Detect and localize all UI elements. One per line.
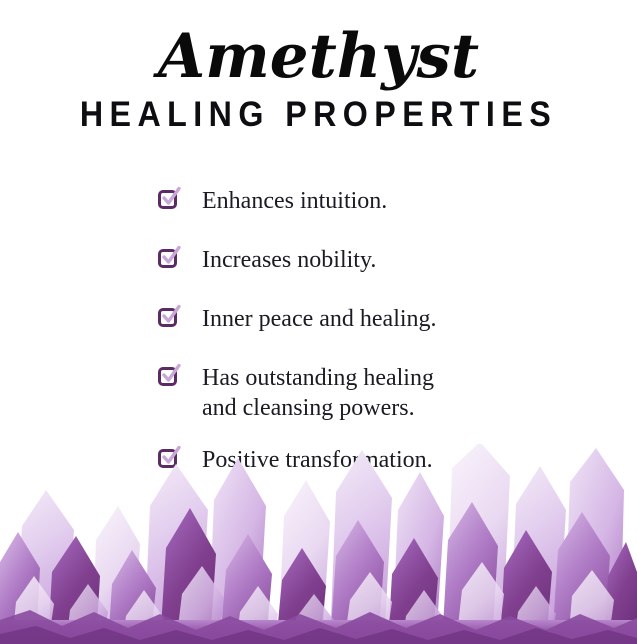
checkbox-checked-icon <box>158 189 180 211</box>
list-item: Has outstanding healing and cleansing po… <box>158 363 588 423</box>
checkbox-checked-icon <box>158 307 180 329</box>
list-item-label: Has outstanding healing and cleansing po… <box>202 363 434 423</box>
list-item: Enhances intuition. <box>158 186 588 216</box>
list-item: Inner peace and healing. <box>158 304 588 334</box>
list-item-label: Inner peace and healing. <box>202 304 437 334</box>
heading-block: Amethyst HEALING PROPERTIES <box>0 26 637 132</box>
checkbox-checked-icon <box>158 366 180 388</box>
list-item-label: Enhances intuition. <box>202 186 387 216</box>
checkbox-checked-icon <box>158 248 180 270</box>
amethyst-crystal-cluster-photo <box>0 444 637 644</box>
page-title: Amethyst <box>0 26 637 87</box>
list-item: Increases nobility. <box>158 245 588 275</box>
list-item-label: Increases nobility. <box>202 245 376 275</box>
amethyst-healing-properties-poster: Amethyst HEALING PROPERTIES Enhances int… <box>0 0 637 644</box>
page-subtitle: HEALING PROPERTIES <box>25 97 611 132</box>
